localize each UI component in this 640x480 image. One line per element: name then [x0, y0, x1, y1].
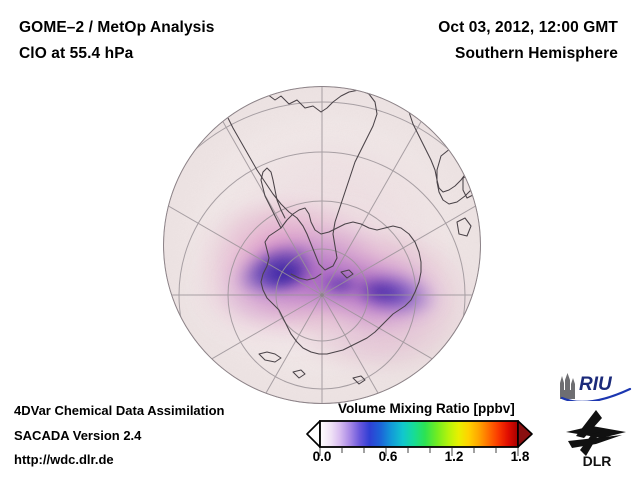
coastline-new-zealand [457, 218, 471, 236]
coastline-australia [437, 144, 481, 204]
coastline-south-sandwich [259, 352, 281, 362]
coastline-africa [407, 86, 479, 192]
page-subtitle: ClO at 55.4 hPa [19, 45, 133, 63]
coastline-south-america [227, 90, 377, 270]
coastline-falklands [341, 270, 353, 278]
dlr-logo: DLR [562, 408, 632, 470]
colorbar-tick-2: 1.2 [445, 449, 464, 464]
coastline-antarctica [261, 208, 421, 354]
footer-method-label: 4DVar Chemical Data Assimilation [14, 403, 225, 418]
colorbar-right-cap [518, 421, 532, 447]
region-label: Southern Hemisphere [455, 45, 618, 63]
page-title: GOME–2 / MetOp Analysis [19, 19, 215, 37]
footer-version-label: SACADA Version 2.4 [14, 428, 141, 443]
globe-disc [163, 86, 481, 404]
riu-logo: RIU [556, 371, 634, 401]
colorbar-tick-3: 1.8 [511, 449, 530, 464]
riu-wordmark: RIU [579, 374, 613, 395]
globe-map [163, 86, 481, 404]
visualization-canvas: GOME–2 / MetOp Analysis ClO at 55.4 hPa … [0, 0, 640, 480]
dlr-mark [566, 410, 626, 456]
coastlines [163, 86, 481, 404]
dlr-wordmark: DLR [583, 453, 612, 469]
coastline-madagascar [463, 174, 477, 198]
colorbar-title: Volume Mixing Ratio [ppbv] [338, 401, 515, 416]
timestamp-label: Oct 03, 2012, 12:00 GMT [438, 19, 618, 37]
colorbar-tick-0: 0.0 [313, 449, 332, 464]
colorbar-left-cap [307, 421, 320, 447]
colorbar-gradient [320, 421, 518, 447]
colorbar-tick-labels: 0.0 0.6 1.2 1.8 [306, 449, 536, 469]
colorbar-tick-1: 0.6 [379, 449, 398, 464]
footer-url-link[interactable]: http://wdc.dlr.de [14, 452, 114, 467]
coastline-south-shetland [293, 370, 305, 378]
coastline-antarctica-inner [291, 274, 321, 280]
riu-cathedral-icon [560, 373, 575, 399]
coastline-misc-island [353, 376, 365, 384]
coastline-antarctic-peninsula [261, 168, 285, 228]
